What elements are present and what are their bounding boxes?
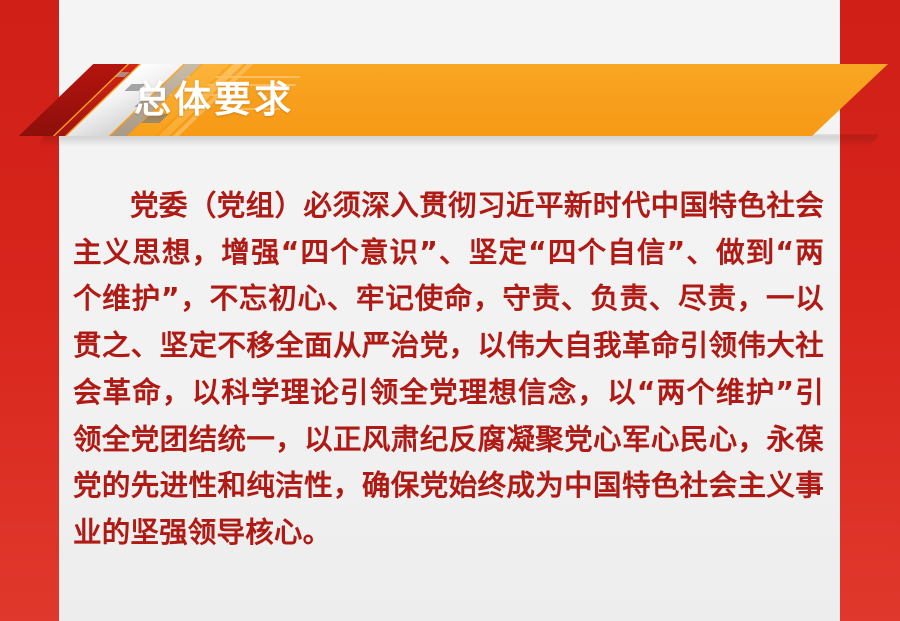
body-paragraph: 党委（党组）必须深入贯彻习近平新时代中国特色社会主义思想，增强“四个意识”、坚定… xyxy=(73,183,824,557)
banner-title-text: 总体要求 xyxy=(134,64,294,136)
slide-canvas: 总体要求 党委（党组）必须深入贯彻习近平新时代中国特色社会主义思想，增强“四个意… xyxy=(0,0,900,621)
body-paragraph-text: 党委（党组）必须深入贯彻习近平新时代中国特色社会主义思想，增强“四个意识”、坚定… xyxy=(73,183,824,557)
title-banner: 总体要求 xyxy=(0,58,900,144)
